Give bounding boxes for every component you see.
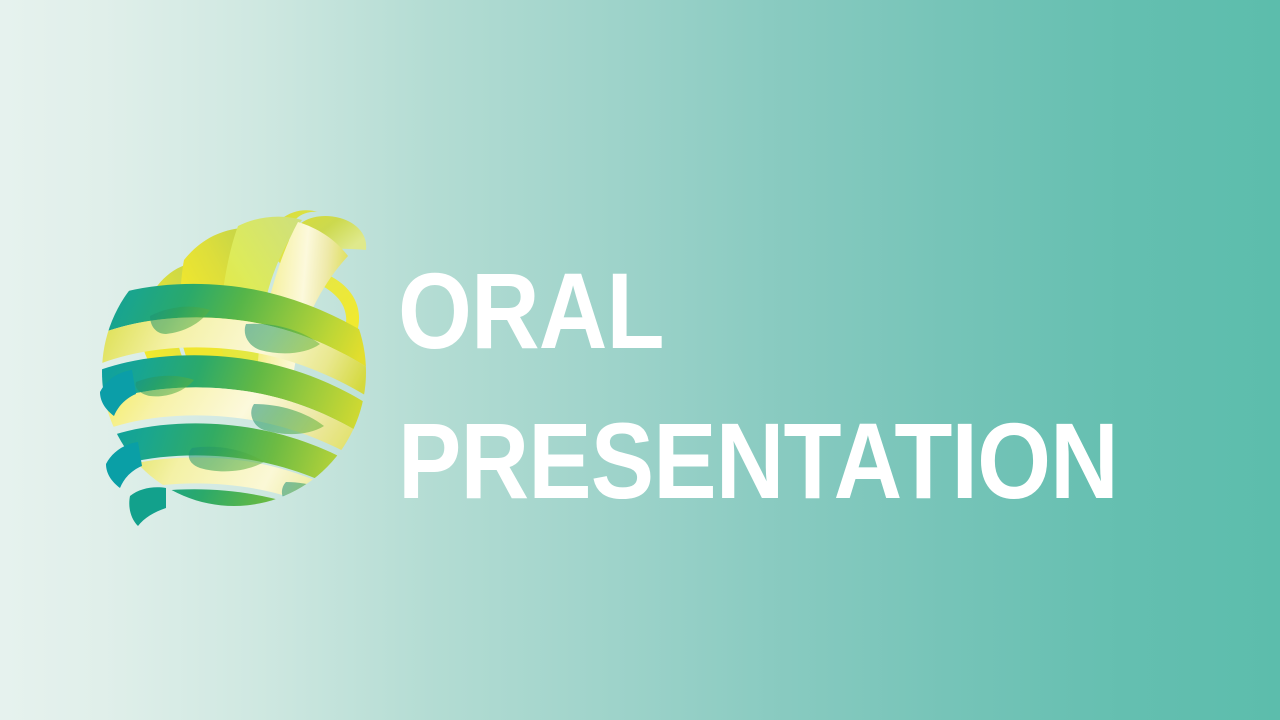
headline-line-1: ORAL bbox=[398, 236, 1120, 386]
logo-globe-bands bbox=[96, 284, 382, 526]
slide-canvas: ORAL PRESENTATION bbox=[0, 0, 1280, 720]
headline-line-2: PRESENTATION bbox=[398, 386, 1120, 536]
headline-block: ORAL PRESENTATION bbox=[398, 236, 1218, 536]
globe-ribbon-logo bbox=[96, 196, 382, 526]
